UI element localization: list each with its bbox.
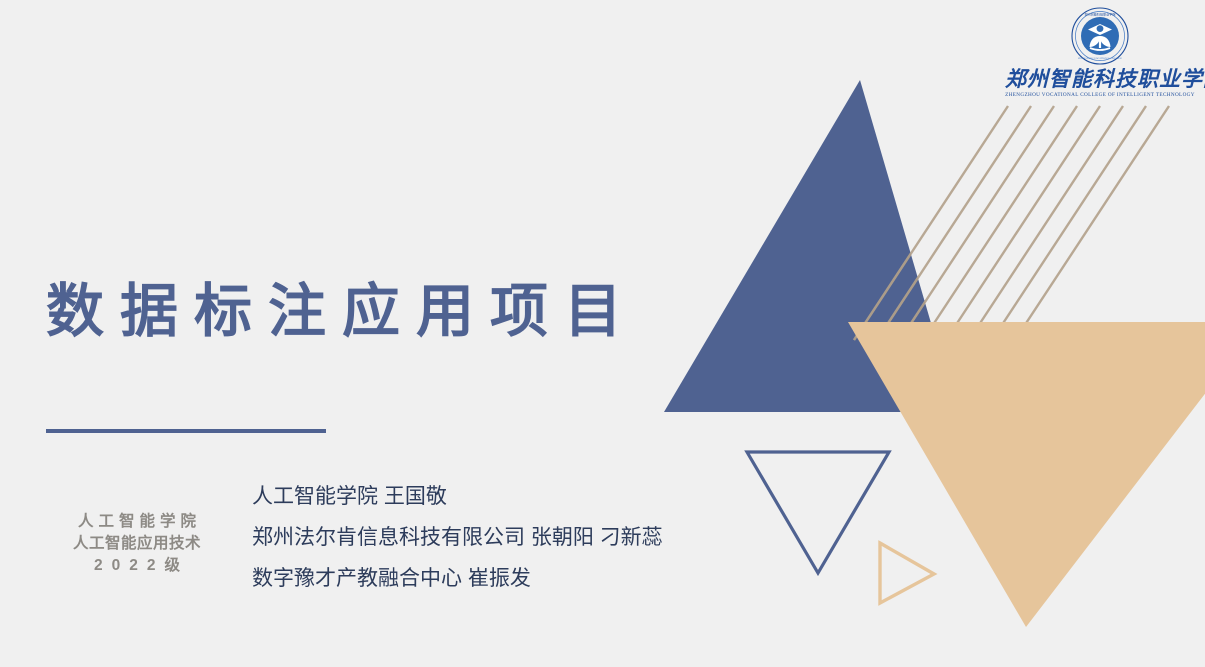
small-tan-triangle-outline-right [880,543,934,603]
large-blue-triangle-up [664,80,957,412]
department-college: 人工智能学院 [46,511,228,533]
presentation-title-slide: 郑州智能科技职业学院 ZHENGZHOU VOCATIONAL COLLEGE … [0,0,1205,667]
diagonal-line-pattern-overlay [854,106,1169,340]
small-blue-triangle-outline-down [747,452,889,573]
credits-section: 人工智能学院 人工智能应用技术 2022级 人工智能学院 王国敬 郑州法尔肯信息… [46,477,663,600]
department-block: 人工智能学院 人工智能应用技术 2022级 [46,477,228,577]
slide-title: 数据标注应用项目 [46,283,638,341]
credit-line: 人工智能学院 王国敬 [252,477,663,518]
logo-english-name: ZHENGZHOU VOCATIONAL COLLEGE OF INTELLIG… [1005,92,1195,98]
logo-chinese-name: 郑州智能科技职业学院 [1005,68,1195,90]
svg-text:郑州智能科技职业学院: 郑州智能科技职业学院 [1085,12,1116,17]
title-divider-rule [46,429,326,433]
credit-line: 郑州法尔肯信息科技有限公司 张朝阳 刁新蕊 [252,518,663,559]
svg-text:ZHENGZHOU VOCATIONAL COLLEGE: ZHENGZHOU VOCATIONAL COLLEGE [1078,57,1122,60]
department-class-year: 2022级 [46,555,228,577]
credit-line: 数字豫才产教融合中心 崔振发 [252,559,663,600]
zhengzhou-college-emblem-icon: 郑州智能科技职业学院 ZHENGZHOU VOCATIONAL COLLEGE [1070,6,1130,66]
diagonal-line-pattern [854,106,1169,340]
college-logo: 郑州智能科技职业学院 ZHENGZHOU VOCATIONAL COLLEGE … [1005,6,1195,98]
people-list: 人工智能学院 王国敬 郑州法尔肯信息科技有限公司 张朝阳 刁新蕊 数字豫才产教融… [252,477,663,600]
large-tan-triangle-down [848,322,1205,627]
department-major: 人工智能应用技术 [46,533,228,555]
